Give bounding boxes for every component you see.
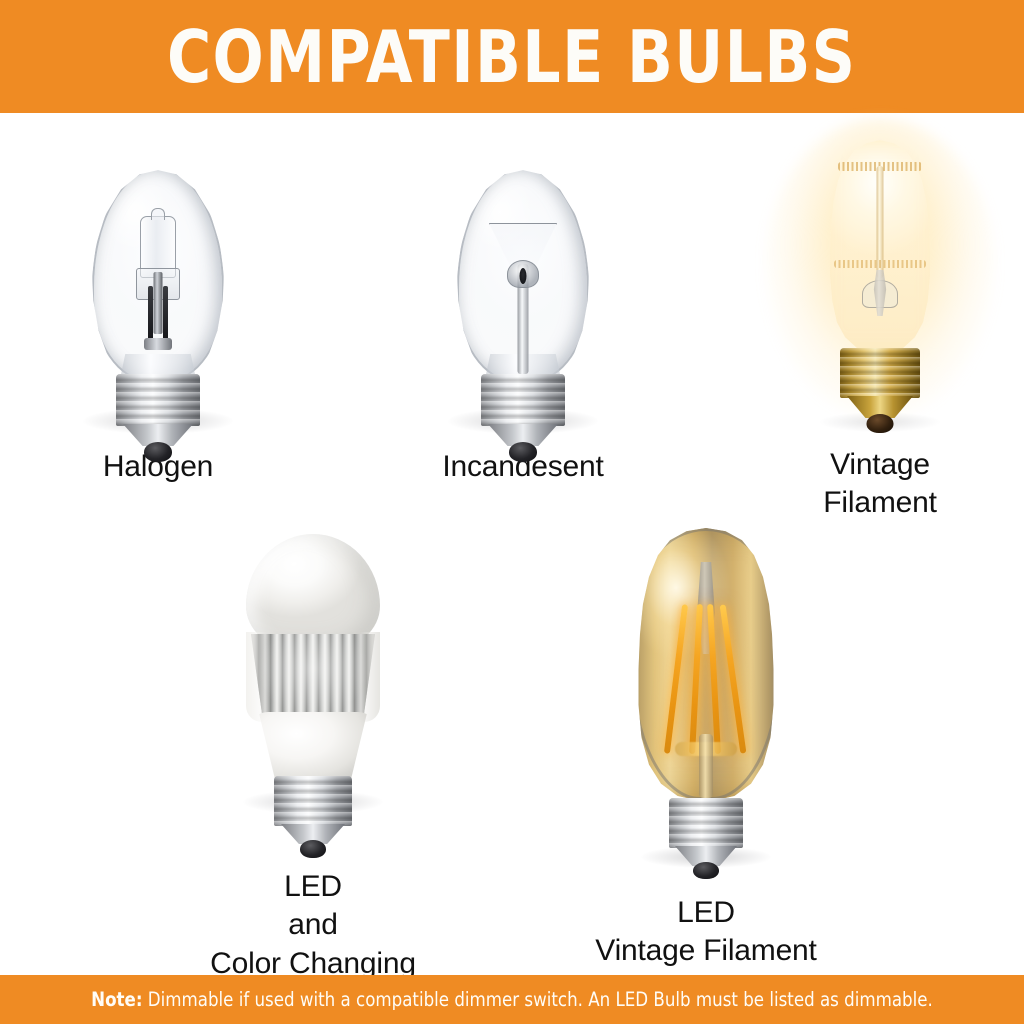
- led-bulb-icon: [228, 534, 398, 812]
- led-vintage-filament-bulb-icon: [621, 528, 791, 868]
- bulb-card-vintage-filament: Vintage Filament: [760, 140, 1000, 523]
- halogen-lead-wires: [146, 286, 170, 340]
- bulb-screw-base: [481, 374, 565, 426]
- footer-note-label: Note:: [91, 988, 142, 1011]
- halogen-bulb-icon: [73, 168, 243, 430]
- bulb-label-led-vintage-filament: LED Vintage Filament: [586, 894, 826, 971]
- page-title: COMPATIBLE BULBS: [167, 21, 857, 93]
- header-banner: COMPATIBLE BULBS: [0, 0, 1024, 113]
- bulb-screw-base: [116, 374, 200, 426]
- footer-note-banner: Note: Dimmable if used with a compatible…: [0, 975, 1024, 1024]
- bulb-base-tip: [300, 840, 326, 858]
- led-filament-strips: [667, 604, 745, 754]
- bulb-card-incandesent: Incandesent: [403, 168, 643, 486]
- incandescent-filament: [520, 268, 527, 284]
- bulb-screw-base: [669, 798, 743, 848]
- bulb-screw-base: [840, 348, 920, 398]
- bulb-label-led: LED and Color Changing: [193, 868, 433, 983]
- vintage-lower-coil: [834, 260, 926, 268]
- bulb-base-tip: [693, 862, 719, 879]
- bulb-base-tip: [867, 414, 894, 433]
- footer-note: Note: Dimmable if used with a compatible…: [91, 988, 933, 1011]
- bulb-base-tip: [509, 442, 537, 462]
- compatible-bulbs-infographic: COMPATIBLE BULBS Halogen: [0, 0, 1024, 1024]
- footer-note-text: Dimmable if used with a compatible dimme…: [148, 988, 933, 1011]
- bulb-card-led-vintage-filament: LED Vintage Filament: [586, 528, 826, 971]
- halogen-foot: [144, 338, 172, 350]
- bulb-label-vintage-filament: Vintage Filament: [760, 446, 1000, 523]
- led-diffuser-dome: [246, 534, 380, 650]
- led-filament-post: [699, 734, 713, 798]
- led-heatsink-fins: [247, 634, 379, 720]
- vintage-filament-bulb-icon: [795, 140, 965, 430]
- bulb-card-led: LED and Color Changing: [193, 534, 433, 983]
- bulb-card-halogen: Halogen: [38, 168, 278, 486]
- incandescent-bulb-icon: [438, 168, 608, 430]
- bulb-screw-base: [274, 776, 352, 826]
- bulb-base-tip: [144, 442, 172, 462]
